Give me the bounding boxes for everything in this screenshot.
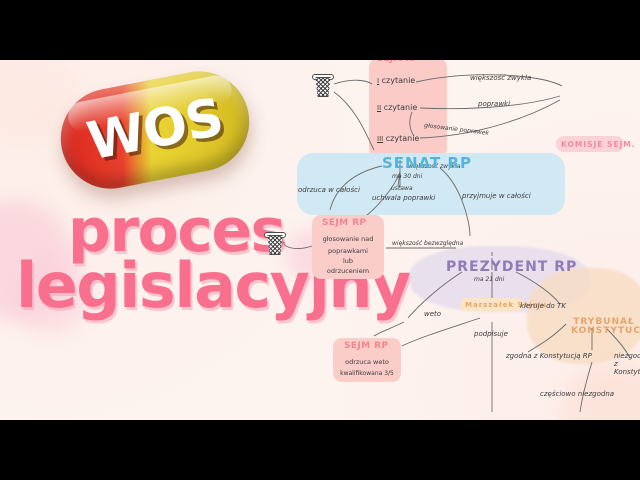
reading-label: czytanie: [386, 134, 420, 143]
reading-label: czytanie: [384, 103, 418, 112]
sejm-amendments-heading: SEJM RP: [322, 218, 366, 228]
edge-label-uchwala-poprawki: uchwala poprawki: [372, 194, 435, 202]
reading-numeral: III: [377, 135, 383, 143]
sejm-readings-card: SEJM RP I czytanie II czytanie III czyta…: [369, 60, 447, 160]
senat-deadline-label: ma 30 dni: [392, 173, 422, 180]
video-frame: WOS proces legislacyjny: [0, 0, 640, 480]
prezydent-heading: PREZYDENT RP: [446, 259, 577, 275]
trybunal-heading: TRYBUNAŁ KONSTYTUCYJNY: [571, 318, 637, 337]
reading-numeral: II: [377, 104, 381, 112]
reading-label: czytanie: [382, 76, 416, 85]
sejm-amendments-line-2: poprawkami: [317, 247, 379, 255]
edge-label-niezgodna-z-konstytucja: niezgodna z Konstytucją: [614, 352, 640, 376]
sejm-veto-heading: SEJM RP: [344, 341, 388, 351]
legislative-process-diagram: SEJM RP I czytanie II czytanie III czyta…: [0, 60, 640, 420]
letterbox-top: [0, 0, 640, 60]
edge-label-podpisuje: podpisuje: [474, 330, 508, 338]
sejm-amendments-line-3: lub: [317, 257, 379, 265]
wastebasket-icon: [312, 74, 332, 96]
basket-body: [266, 235, 284, 255]
edge-label-ustawa: ustawa: [391, 185, 413, 192]
letterbox-bottom: [0, 420, 640, 480]
edge-label-czesciowo-niezgodna: częściowo niezgodna: [540, 390, 614, 398]
wastebasket-icon: [264, 232, 284, 254]
sejm-veto-line-2: kwalifikowana 3/5: [336, 370, 398, 377]
basket-body: [314, 77, 332, 97]
trybunal-heading-line-2: KONSTYTUCYJNY: [571, 327, 637, 336]
edge-label-wiekszosc-bezwzgledna: większość bezwzględna: [392, 240, 463, 247]
reading-row-2: II czytanie: [377, 103, 417, 112]
reading-row-1: I czytanie: [377, 76, 415, 85]
edge-label-poprawki: poprawki: [478, 100, 510, 108]
sejm-veto-line-1: odrzuca weto: [336, 358, 398, 366]
sejm-amendments-line-4: odrzuceniem: [317, 267, 379, 275]
edge-label-wiekszosc-zwykla-1: większość zwykła: [470, 74, 531, 82]
edge-label-przyjmuje-w-calosci: przyjmuje w całości: [462, 192, 531, 200]
edge-label-weto: weto: [424, 310, 441, 318]
prezydent-deadline-label: ma 21 dni: [474, 276, 504, 283]
senat-heading: SENAT RP: [382, 154, 472, 172]
edge-label-kieruje-do-tk: kieruje do TK: [520, 302, 566, 310]
sejm-amendments-line-1: głosowanie nad: [317, 235, 379, 243]
diagram-canvas: WOS proces legislacyjny: [0, 60, 640, 420]
reading-numeral: I: [377, 77, 379, 85]
komisje-label: KOMISJE SEJM.: [561, 140, 636, 149]
edge-label-zgodna-z-konstytucja: zgodna z Konstytucją RP: [506, 352, 592, 360]
edge-label-odrzuca-w-calosci: odrzuca w całości: [298, 186, 360, 194]
reading-row-3: III czytanie: [377, 134, 419, 143]
sejm-readings-heading: SEJM RP: [377, 60, 419, 64]
